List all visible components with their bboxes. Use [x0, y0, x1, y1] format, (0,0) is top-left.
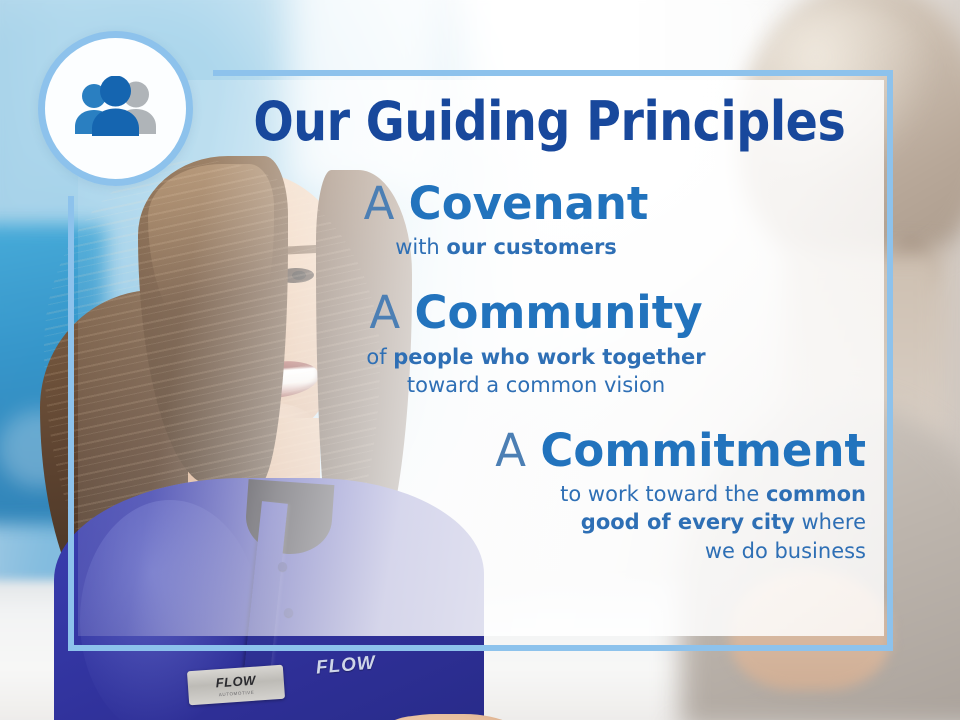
frame-border-bottom — [68, 645, 893, 651]
commitment-sub-plain2: where — [795, 510, 866, 534]
commitment-sub-line2: good of every city where — [200, 508, 866, 536]
frame-border-top — [213, 70, 893, 76]
people-group-badge — [38, 31, 193, 186]
principle-community-subtext: of people who work together toward a com… — [200, 343, 872, 399]
name-badge-brand-text: FLOW — [215, 673, 256, 689]
commitment-sub-line3: we do business — [200, 537, 866, 565]
principle-covenant-subtext: with our customers — [200, 233, 812, 261]
covenant-sub-bold: our customers — [446, 235, 616, 259]
commitment-article: A — [495, 424, 526, 477]
page-title: Our Guiding Principles — [253, 95, 844, 149]
community-sub-bold: people who work together — [393, 345, 705, 369]
principle-covenant-heading: A Covenant — [200, 178, 812, 229]
community-sub-plain: of — [366, 345, 393, 369]
principle-commitment: A Commitment to work toward the common g… — [200, 425, 888, 565]
commitment-sub-bold2: good of every city — [581, 510, 795, 534]
community-article: A — [369, 286, 400, 339]
principle-community-heading: A Community — [200, 287, 872, 338]
people-group-icon — [66, 76, 166, 142]
frame-border-left — [68, 196, 74, 651]
brand-values-graphic: FLOW AUTOMOTIVE FLOW Our — [0, 0, 960, 720]
principle-commitment-heading: A Commitment — [200, 425, 866, 476]
commitment-sub-line1: to work toward the common — [200, 480, 866, 508]
commitment-keyword: Commitment — [540, 424, 866, 477]
commitment-sub-plain: to work toward the — [560, 482, 766, 506]
covenant-keyword: Covenant — [409, 177, 649, 230]
principle-covenant: A Covenant with our customers — [200, 178, 888, 261]
covenant-article: A — [364, 177, 395, 230]
name-badge-subtitle-text: AUTOMOTIVE — [219, 689, 255, 696]
principle-commitment-subtext: to work toward the common good of every … — [200, 480, 866, 564]
community-sub-line1: of people who work together — [200, 343, 872, 371]
principles-list: A Covenant with our customers A Communit… — [200, 178, 888, 567]
community-keyword: Community — [415, 286, 703, 339]
employee-name-badge: FLOW AUTOMOTIVE — [187, 665, 285, 706]
commitment-sub-bold1: common — [766, 482, 866, 506]
principle-community: A Community of people who work together … — [200, 287, 888, 399]
community-sub-line2: toward a common vision — [200, 371, 872, 399]
covenant-sub-plain: with — [395, 235, 446, 259]
